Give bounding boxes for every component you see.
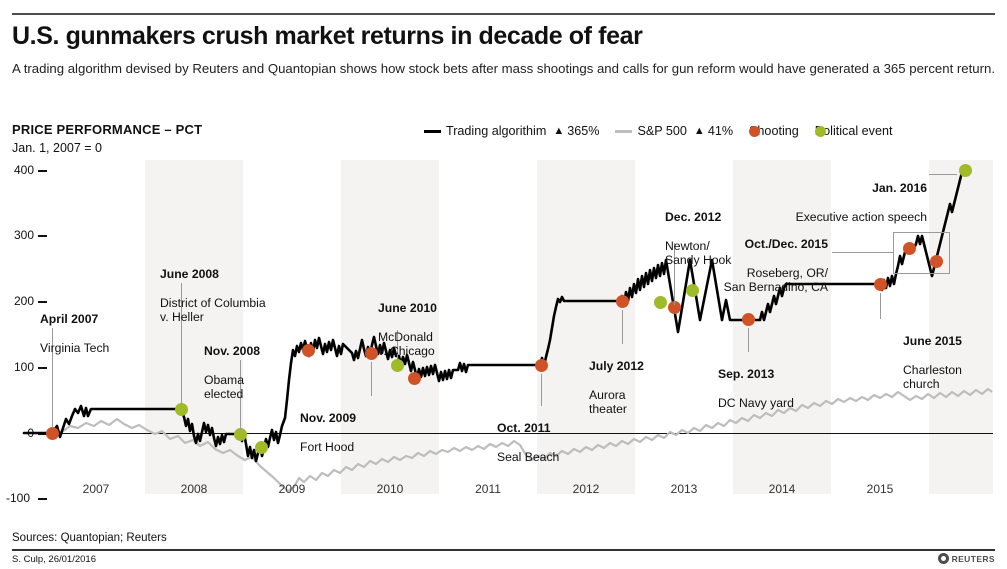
annotation-body: McDonald v. Chicago	[378, 330, 435, 359]
legend-item-trading-algorithm[interactable]: Trading algorithim ▲ 365%	[424, 124, 599, 138]
annotation-title: June 2015	[903, 334, 993, 349]
line-swatch-black-icon	[424, 130, 441, 133]
y-tick-mark-neg100	[38, 498, 47, 500]
event-dot-shooting-oct-2011[interactable]	[535, 359, 548, 372]
infographic-root: U.S. gunmakers crush market returns in d…	[0, 0, 1007, 569]
x-tick-label-2015: 2015	[850, 482, 910, 496]
event-dot-shooting-aug-2010[interactable]	[408, 372, 421, 385]
annotation-title: June 2010	[378, 301, 478, 316]
page-subtitle: A trading algorithm devised by Reuters a…	[12, 60, 997, 77]
annotation-june-2008: June 2008 District of Columbia v. Heller	[160, 252, 295, 325]
byline-text: S. Culp, 26/01/2016	[12, 554, 96, 565]
page-title: U.S. gunmakers crush market returns in d…	[12, 22, 972, 51]
chart-plot-area: 400 300 200 100 0 -100	[0, 160, 1007, 480]
event-dot-shooting-july-2012[interactable]	[616, 295, 629, 308]
x-tick-label-2012: 2012	[556, 482, 616, 496]
leader-line-oct-dec-2015	[832, 252, 893, 253]
legend-item-political-event[interactable]: Political event	[815, 124, 893, 138]
bottom-rule	[12, 549, 995, 551]
annotation-sep-2013: Sep. 2013 DC Navy yard	[718, 352, 828, 410]
callout-box-oct-dec-2015	[893, 232, 950, 274]
x-tick-label-2007: 2007	[66, 482, 126, 496]
annotation-april-2007: April 2007 Virginia Tech	[40, 297, 150, 355]
annotation-oct-dec-2015: Oct./Dec. 2015 Roseberg, OR/ San Bernadi…	[683, 222, 828, 295]
annotation-title: Sep. 2013	[718, 367, 828, 382]
x-tick-label-2009: 2009	[262, 482, 322, 496]
annotation-title: July 2012	[589, 359, 669, 374]
annotation-title: Nov. 2009	[300, 411, 395, 426]
annotation-body: DC Navy yard	[718, 396, 794, 410]
legend-item-sp500[interactable]: S&P 500 ▲ 41%	[615, 124, 733, 138]
event-dot-political-dec-2012a[interactable]	[654, 296, 667, 309]
annotation-body: Virginia Tech	[40, 341, 109, 355]
legend-value-trading-algorithm: 365%	[567, 124, 599, 138]
x-tick-label-2008: 2008	[164, 482, 224, 496]
annotation-title: Oct. 2011	[497, 421, 597, 436]
event-dot-shooting-jan-2009[interactable]	[302, 344, 315, 357]
legend-label-political-event: Political event	[815, 124, 893, 138]
annotation-july-2012: July 2012 Aurora theater	[589, 344, 669, 417]
legend-item-shooting[interactable]: Shooting	[749, 124, 799, 138]
annotation-body: Aurora theater	[589, 388, 627, 417]
annotation-body: Roseberg, OR/ San Bernadino, CA	[724, 266, 828, 295]
leader-line-nov-2009	[371, 362, 372, 396]
annotation-body: Charleston church	[903, 363, 962, 392]
dot-green-icon	[815, 126, 826, 137]
chart-section-title: PRICE PERFORMANCE – PCT	[12, 122, 202, 137]
event-dot-shooting-nov-2009[interactable]	[365, 347, 378, 360]
event-dot-shooting-june-2015[interactable]	[874, 278, 887, 291]
annotation-title: Jan. 2016	[767, 181, 927, 196]
event-dot-political-nov-2008b[interactable]	[255, 441, 268, 454]
annotation-title: Nov. 2008	[204, 344, 284, 359]
annotation-title: Oct./Dec. 2015	[683, 237, 828, 252]
annotation-nov-2008: Nov. 2008 Obama elected	[204, 329, 284, 402]
triangle-up-icon: ▲	[553, 126, 564, 137]
annotation-body: Obama elected	[204, 373, 244, 402]
sources-text: Sources: Quantopian; Reuters	[12, 532, 167, 544]
legend-value-sp500: 41%	[708, 124, 733, 138]
chart-baseline-note: Jan. 1, 2007 = 0	[12, 141, 102, 155]
annotation-june-2015: June 2015 Charleston church	[903, 319, 993, 392]
leader-line-july-2012	[622, 310, 623, 344]
annotation-june-2010: June 2010 McDonald v. Chicago	[378, 286, 478, 359]
reuters-brand: REUTERS	[938, 553, 995, 564]
leader-line-june-2015	[880, 293, 881, 319]
top-rule	[12, 13, 995, 15]
triangle-up-icon: ▲	[694, 126, 705, 137]
line-swatch-gray-icon	[615, 130, 632, 133]
x-tick-label-2014: 2014	[752, 482, 812, 496]
annotation-oct-2011: Oct. 2011 Seal Beach	[497, 406, 597, 464]
reuters-logo-icon	[938, 553, 949, 564]
chart-legend: Trading algorithim ▲ 365% S&P 500 ▲ 41% …	[424, 122, 908, 140]
annotation-nov-2009: Nov. 2009 Fort Hood	[300, 396, 395, 454]
dot-orange-icon	[749, 126, 760, 137]
annotation-body: Executive action speech	[796, 210, 927, 224]
event-dot-shooting-april-2007[interactable]	[46, 427, 59, 440]
event-dot-shooting-sep-2013[interactable]	[742, 313, 755, 326]
x-tick-label-2013: 2013	[654, 482, 714, 496]
annotation-jan-2016: Jan. 2016 Executive action speech	[767, 166, 927, 224]
annotation-body: Fort Hood	[300, 440, 354, 454]
leader-line-oct-2011	[541, 374, 542, 406]
reuters-brand-label: REUTERS	[952, 554, 995, 564]
legend-label-trading-algorithm: Trading algorithim	[446, 124, 546, 138]
annotation-title: April 2007	[40, 312, 150, 327]
annotation-title: June 2008	[160, 267, 295, 282]
annotation-body: District of Columbia v. Heller	[160, 296, 266, 325]
x-tick-label-2010: 2010	[360, 482, 420, 496]
event-dot-political-jan-2016[interactable]	[959, 164, 972, 177]
legend-label-sp500: S&P 500	[637, 124, 686, 138]
x-tick-label-2011: 2011	[458, 482, 518, 496]
annotation-body: Seal Beach	[497, 450, 559, 464]
leader-line-jan-2016	[929, 174, 957, 175]
leader-line-sep-2013	[748, 328, 749, 352]
